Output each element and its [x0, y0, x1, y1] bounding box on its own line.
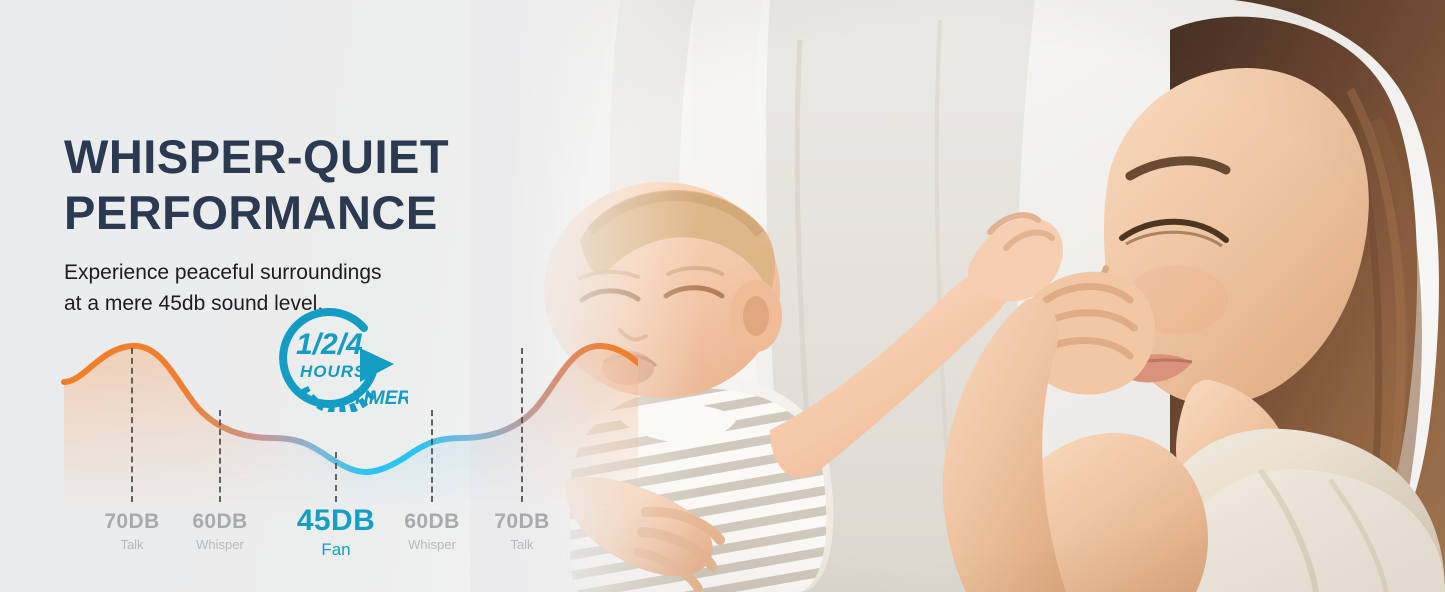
axis-caption: Talk [462, 535, 582, 555]
whisper-quiet-performance-banner: WHISPER-QUIET PERFORMANCE Experience pea… [0, 0, 1445, 592]
tick-60db-left [219, 410, 221, 502]
timer-badge-icon: 1/2/4 HOURS TIMER [268, 306, 408, 412]
tick-45db-center [335, 452, 337, 502]
timer-label: TIMER [352, 388, 408, 409]
tick-70db-right [521, 348, 523, 502]
headline-line-1: WHISPER-QUIET [64, 130, 449, 183]
page-title: WHISPER-QUIET PERFORMANCE [64, 129, 494, 241]
timer-hours-value: 1/2/4 [296, 328, 363, 361]
axis-value: 70DB [462, 509, 582, 535]
axis-label-70db-right: 70DB Talk [462, 509, 582, 555]
axis-value: 60DB [160, 509, 280, 535]
timer-hours-unit: HOURS [300, 362, 366, 381]
headline-line-2: PERFORMANCE [64, 185, 494, 241]
tick-70db-left [131, 348, 133, 502]
axis-caption: Whisper [160, 535, 280, 555]
tick-60db-right [431, 410, 433, 502]
axis-label-60db-left: 60DB Whisper [160, 509, 280, 555]
subtitle-line-1: Experience peaceful surroundings [64, 261, 382, 284]
